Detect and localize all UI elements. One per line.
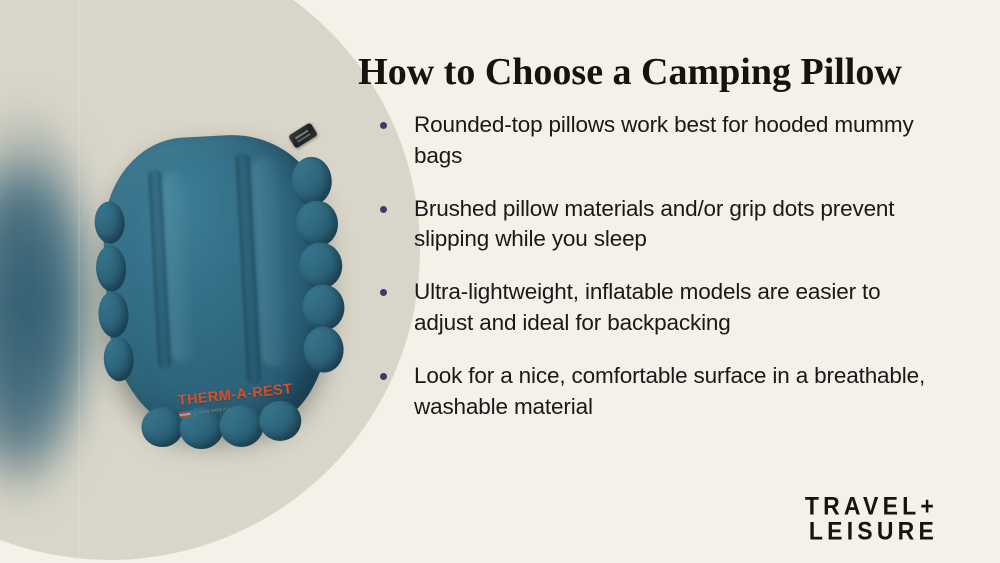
- inflation-valve-icon: [288, 122, 318, 148]
- list-item: Rounded-top pillows work best for hooded…: [372, 110, 932, 172]
- bullet-dot-icon: [380, 289, 387, 296]
- pillow-lobe: [103, 336, 135, 382]
- divider: |: [194, 410, 196, 416]
- pillow-lobe: [291, 156, 333, 206]
- list-item-text: Rounded-top pillows work best for hooded…: [414, 112, 914, 168]
- list-item: Brushed pillow materials and/or grip dot…: [372, 194, 932, 256]
- list-item: Ultra-lightweight, inflatable models are…: [372, 277, 932, 339]
- flag-icon: [179, 411, 191, 418]
- list-item-text: Look for a nice, comfortable surface in …: [414, 363, 925, 419]
- list-item: Look for a nice, comfortable surface in …: [372, 361, 932, 423]
- camping-pillow-body: THERM-A-REST | U.S.A. MADE #1-1: [98, 130, 335, 436]
- bullet-dot-icon: [380, 373, 387, 380]
- pillow-lobe: [95, 245, 127, 293]
- page-title: How to Choose a Camping Pillow: [330, 52, 930, 94]
- slide-canvas: THERM-A-REST | U.S.A. MADE #1-1 How to C…: [0, 0, 1000, 563]
- pillow-lobe: [94, 201, 126, 245]
- product-image: THERM-A-REST | U.S.A. MADE #1-1: [78, 118, 348, 448]
- travel-leisure-logo: TRAVEL+ LEISURE: [805, 494, 938, 546]
- logo-line-2: LEISURE: [805, 518, 938, 546]
- pillow-lobe: [140, 406, 184, 448]
- bullet-dot-icon: [380, 122, 387, 129]
- content-column: How to Choose a Camping Pillow Rounded-t…: [330, 0, 950, 563]
- bullet-dot-icon: [380, 206, 387, 213]
- tips-list: Rounded-top pillows work best for hooded…: [372, 110, 932, 445]
- list-item-text: Brushed pillow materials and/or grip dot…: [414, 196, 894, 252]
- list-item-text: Ultra-lightweight, inflatable models are…: [414, 279, 880, 335]
